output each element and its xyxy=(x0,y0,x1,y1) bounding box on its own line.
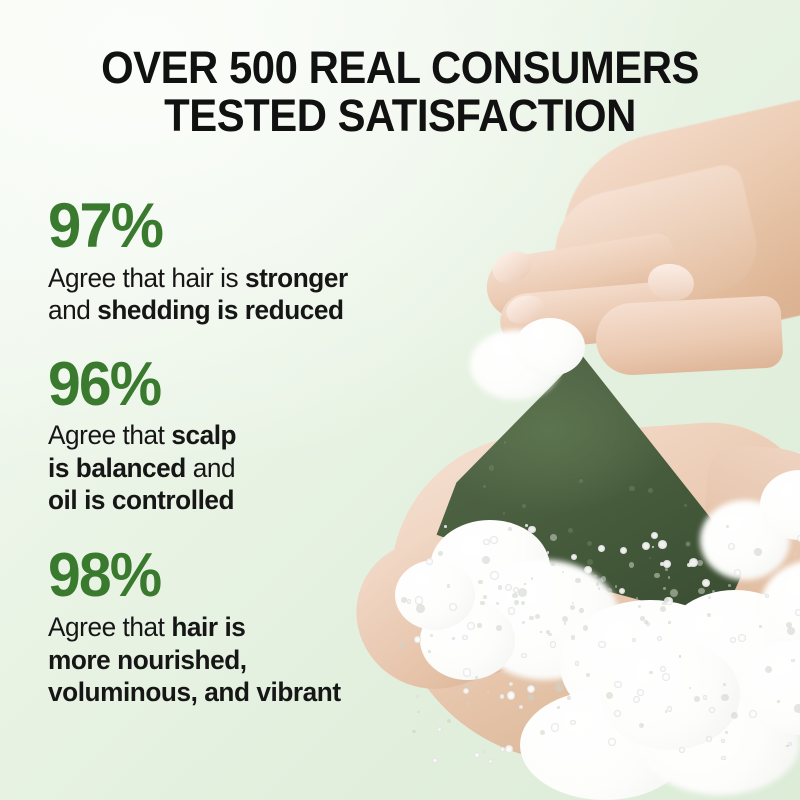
emphasis-text: voluminous, and vibrant xyxy=(48,677,341,707)
stat-percent: 97% xyxy=(48,196,428,258)
plain-text: Agree that hair is xyxy=(48,263,245,293)
stat-description: Agree that hair ismore nourished,volumin… xyxy=(48,611,436,708)
plain-text: and xyxy=(48,295,97,325)
stat-description-line: is balanced and xyxy=(48,452,436,484)
page-title: OVER 500 REAL CONSUMERS TESTED SATISFACT… xyxy=(28,44,772,139)
stat-description-line: Agree that scalp xyxy=(48,419,436,451)
emphasis-text: more nourished, xyxy=(48,645,247,675)
stat-block: 98%Agree that hair ismore nourished,volu… xyxy=(48,546,448,708)
emphasis-text: oil is controlled xyxy=(48,485,234,515)
stat-percent: 96% xyxy=(48,355,428,416)
headline-line-2: TESTED SATISFACTION xyxy=(28,92,772,140)
stat-description: Agree that hair is strongerand shedding … xyxy=(48,262,436,327)
poster-canvas: OVER 500 REAL CONSUMERS TESTED SATISFACT… xyxy=(0,0,800,800)
emphasis-text: hair is xyxy=(171,612,245,642)
headline-line-1: OVER 500 REAL CONSUMERS xyxy=(28,44,772,92)
stat-description-line: more nourished, xyxy=(48,644,436,676)
stat-description-line: and shedding is reduced xyxy=(48,294,436,326)
stat-block: 96%Agree that scalpis balanced andoil is… xyxy=(48,355,448,517)
plain-text: Agree that xyxy=(48,612,171,642)
emphasis-text: is balanced xyxy=(48,453,186,483)
stat-description-line: oil is controlled xyxy=(48,484,436,516)
stats-list: 97%Agree that hair is strongerand sheddi… xyxy=(48,196,448,708)
stat-description-line: Agree that hair is xyxy=(48,611,436,643)
stat-percent: 98% xyxy=(48,546,428,607)
stat-description-line: Agree that hair is stronger xyxy=(48,262,436,294)
plain-text: Agree that xyxy=(48,420,171,450)
emphasis-text: shedding is reduced xyxy=(97,295,343,325)
emphasis-text: stronger xyxy=(245,263,348,293)
stat-block: 97%Agree that hair is strongerand sheddi… xyxy=(48,196,448,327)
stat-description-line: voluminous, and vibrant xyxy=(48,676,436,708)
emphasis-text: scalp xyxy=(171,420,236,450)
plain-text: and xyxy=(186,453,235,483)
stat-description: Agree that scalpis balanced andoil is co… xyxy=(48,419,436,516)
